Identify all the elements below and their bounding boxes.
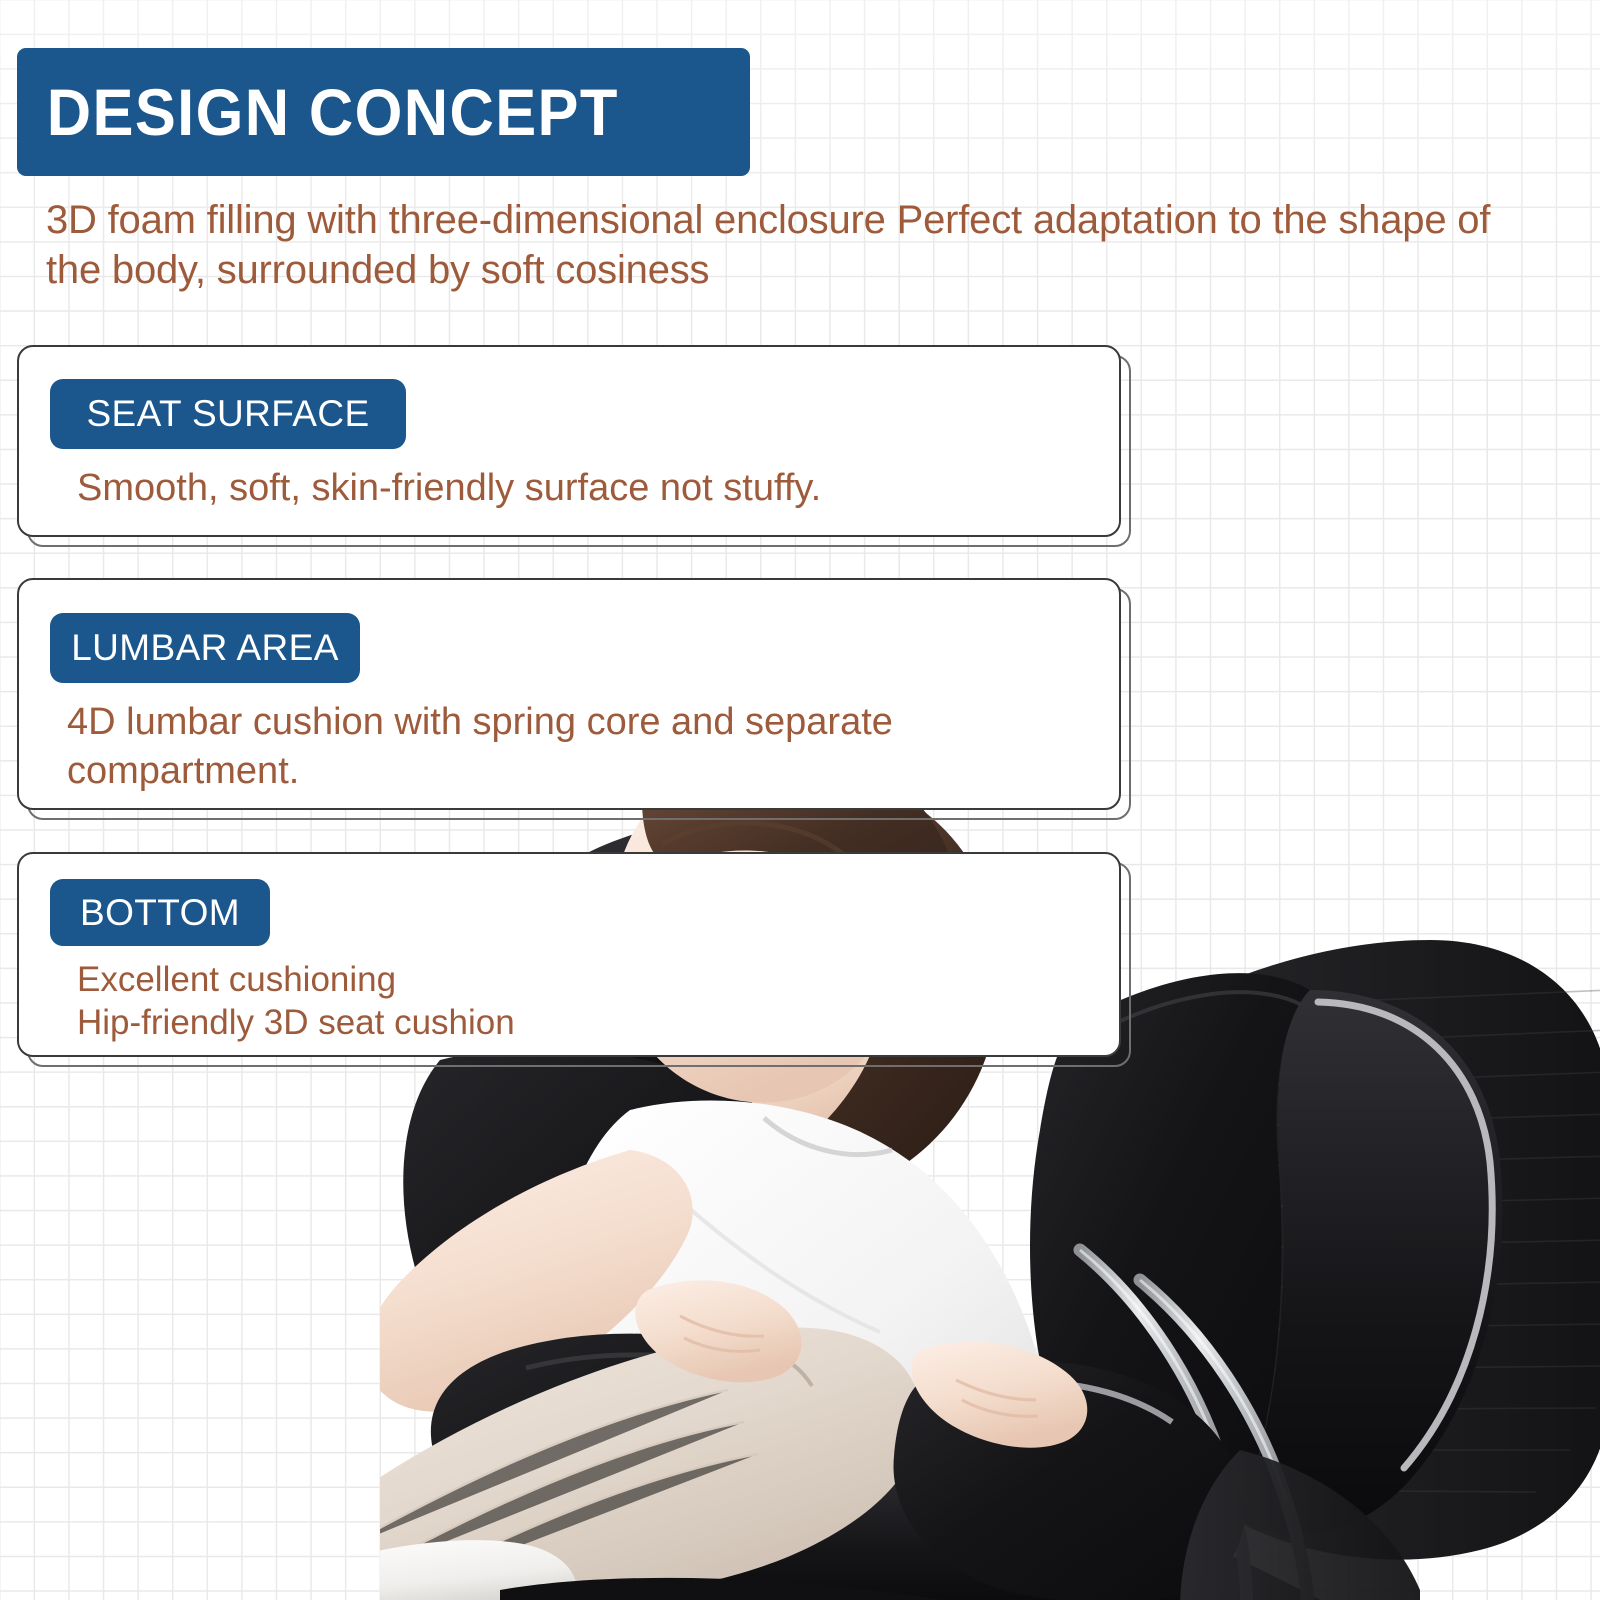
page-title: DESIGN CONCEPT bbox=[17, 79, 619, 145]
badge-seat-surface: SEAT SURFACE bbox=[50, 379, 406, 449]
badge-bottom: BOTTOM bbox=[50, 879, 270, 946]
card-body-bottom-line2: Hip-friendly 3D seat cushion bbox=[77, 1001, 515, 1044]
card-panel: BOTTOM Excellent cushioning Hip-friendly… bbox=[17, 852, 1121, 1057]
subtitle-text: 3D foam filling with three-dimensional e… bbox=[46, 196, 1496, 295]
feature-card-seat-surface: SEAT SURFACE Smooth, soft, skin-friendly… bbox=[17, 345, 1121, 537]
feature-card-bottom: BOTTOM Excellent cushioning Hip-friendly… bbox=[17, 852, 1121, 1057]
card-body-bottom: Excellent cushioning Hip-friendly 3D sea… bbox=[77, 958, 515, 1045]
card-body-bottom-line1: Excellent cushioning bbox=[77, 958, 515, 1001]
badge-lumbar-area: LUMBAR AREA bbox=[50, 613, 360, 683]
card-body-lumbar-area: 4D lumbar cushion with spring core and s… bbox=[67, 698, 1077, 797]
card-panel: SEAT SURFACE Smooth, soft, skin-friendly… bbox=[17, 345, 1121, 537]
page-title-banner: DESIGN CONCEPT bbox=[17, 48, 750, 176]
card-panel: LUMBAR AREA 4D lumbar cushion with sprin… bbox=[17, 578, 1121, 810]
card-body-seat-surface: Smooth, soft, skin-friendly surface not … bbox=[77, 464, 821, 513]
design-concept-infographic: DESIGN CONCEPT 3D foam filling with thre… bbox=[0, 0, 1600, 1600]
feature-card-lumbar-area: LUMBAR AREA 4D lumbar cushion with sprin… bbox=[17, 578, 1121, 810]
